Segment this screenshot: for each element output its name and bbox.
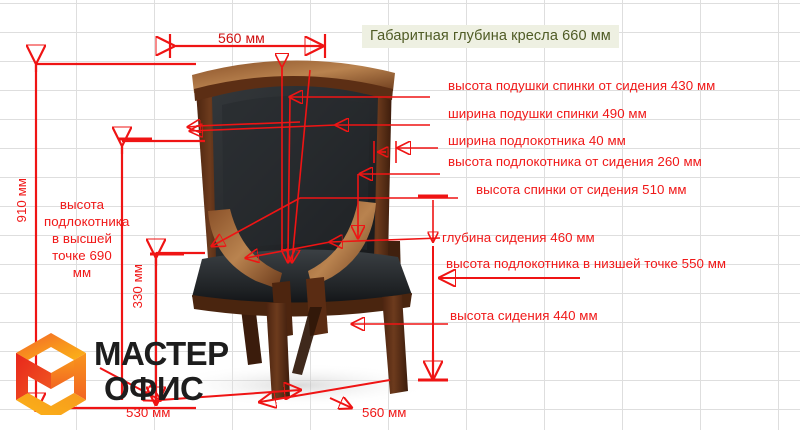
label-top-width: 560 мм bbox=[218, 30, 265, 46]
hexagon-m-logo-icon bbox=[12, 331, 90, 415]
brand-logo: МАСТЕР ОФИС bbox=[12, 331, 244, 419]
label-seat-frame-height: 330 мм bbox=[130, 264, 145, 308]
label-seat-depth: глубина сидения 460 мм bbox=[442, 230, 595, 245]
chair-dimensions-diagram: Габаритная глубина кресла 660 мм 560 мм … bbox=[0, 0, 800, 430]
label-bottom-right-depth: 560 мм bbox=[362, 405, 406, 420]
label-back-height-from-seat: высота спинки от сидения 510 мм bbox=[476, 182, 687, 197]
label-armrest-low-point: высота подлокотника в низшей точке 550 м… bbox=[446, 256, 726, 271]
label-overall-height: 910 мм bbox=[14, 178, 29, 222]
label-back-cushion-height: высота подушки спинки от сидения 430 мм bbox=[448, 78, 715, 93]
label-armrest-height-from-seat: высота подлокотника от сидения 260 мм bbox=[448, 154, 702, 169]
label-seat-height: высота сидения 440 мм bbox=[450, 308, 598, 323]
label-armrest-width: ширина подлокотника 40 мм bbox=[448, 133, 626, 148]
logo-text-line2: ОФИС bbox=[104, 372, 203, 405]
logo-text-line1: МАСТЕР bbox=[94, 337, 229, 370]
label-back-cushion-width: ширина подушки спинки 490 мм bbox=[448, 106, 647, 121]
overall-depth-banner: Габаритная глубина кресла 660 мм bbox=[362, 25, 619, 48]
label-armrest-high-point: высота подлокотника в высшей точке 690 м… bbox=[44, 196, 120, 281]
